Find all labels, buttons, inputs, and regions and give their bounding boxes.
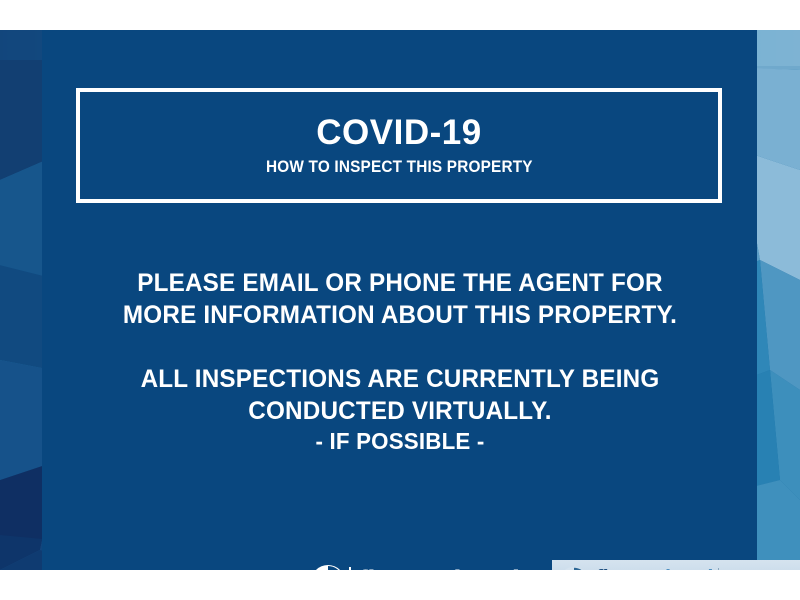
badge-brand: firstnational REAL ESTATE <box>596 567 713 570</box>
screenshot-canvas: COVID-19 HOW TO INSPECT THIS PROPERTY PL… <box>0 0 800 600</box>
message-line: - IF POSSIBLE - <box>70 427 730 456</box>
page-title: COVID-19 <box>316 115 481 152</box>
badge-word-first: first <box>596 565 634 570</box>
page-subtitle: HOW TO INSPECT THIS PROPERTY <box>266 158 533 176</box>
firstnational-swirl-icon <box>310 564 346 570</box>
message-line: PLEASE EMAIL OR PHONE THE AGENT FOR <box>70 268 730 300</box>
firstnational-wordmark: firstnational <box>358 567 519 570</box>
logo-divider <box>349 567 351 570</box>
message-body: PLEASE EMAIL OR PHONE THE AGENT FOR MORE… <box>60 268 740 456</box>
message-paragraph-1: PLEASE EMAIL OR PHONE THE AGENT FOR MORE… <box>70 268 730 331</box>
header-frame: COVID-19 HOW TO INSPECT THIS PROPERTY <box>76 88 722 203</box>
message-line: CONDUCTED VIRTUALLY. <box>70 396 730 428</box>
firstnational-logo: firstnational <box>310 563 519 570</box>
covid-inspection-poster: COVID-19 HOW TO INSPECT THIS PROPERTY PL… <box>0 30 800 570</box>
office-badge: firstnational REAL ESTATE Finning <box>552 560 800 570</box>
badge-word-national: national <box>634 565 713 570</box>
message-line: MORE INFORMATION ABOUT THIS PROPERTY. <box>70 300 730 332</box>
firstnational-swirl-icon <box>558 566 590 570</box>
message-line: ALL INSPECTIONS ARE CURRENTLY BEING <box>70 364 730 396</box>
badge-wordmark: firstnational <box>596 567 713 570</box>
paragraph-spacer <box>60 331 740 364</box>
message-paragraph-2: ALL INSPECTIONS ARE CURRENTLY BEING COND… <box>70 364 730 456</box>
badge-separator <box>718 568 719 570</box>
